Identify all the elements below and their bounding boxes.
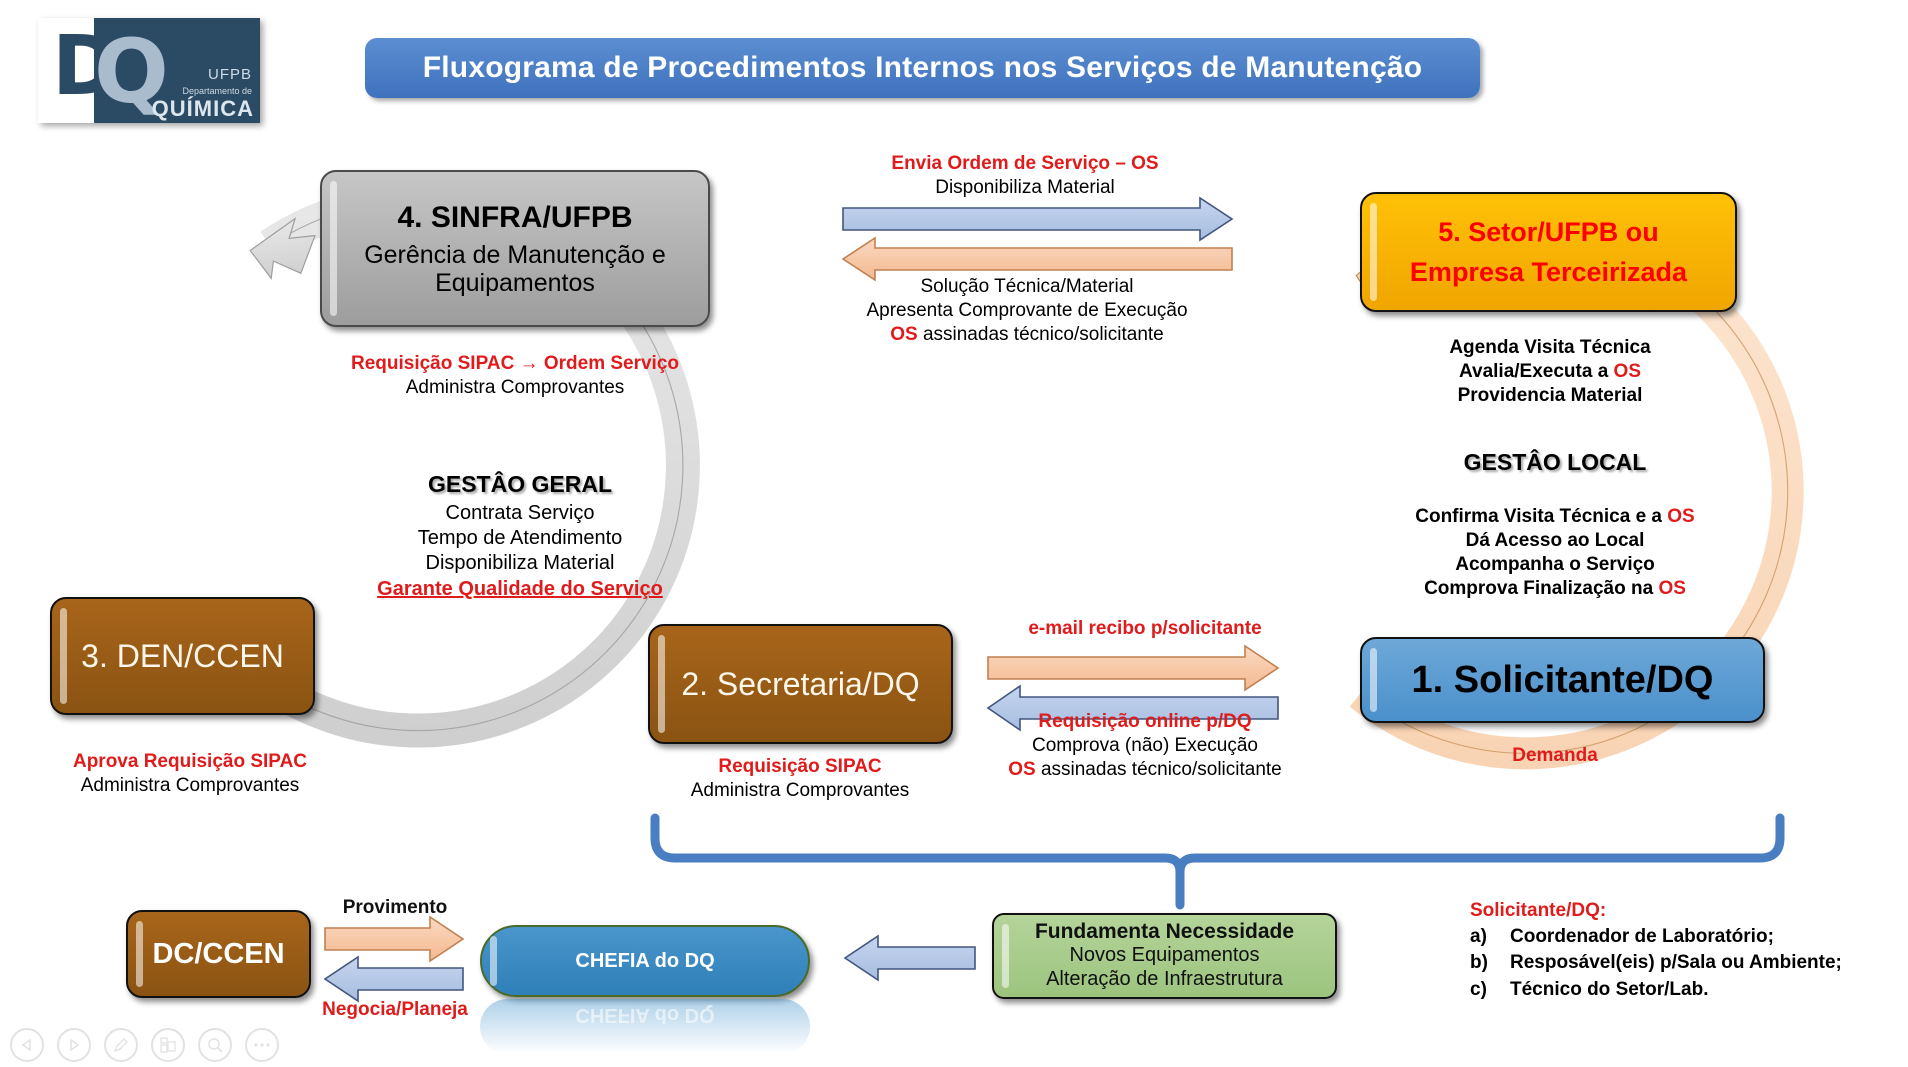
node-sinfra-heading: 4. SINFRA/UFPB	[397, 201, 632, 235]
annotation-solucao-tecnica: Solução Técnica/Material Apresenta Compr…	[812, 275, 1242, 347]
solicitante-list-heading: Solicitante/DQ:	[1470, 898, 1890, 924]
annotation-req-online-line-3-rest: assinadas técnico/solicitante	[1036, 759, 1282, 780]
list-item: b) Resposável(eis) p/Sala ou Ambiente;	[1470, 950, 1890, 976]
play-icon[interactable]	[57, 1028, 91, 1062]
annotation-req-online-line-3: OS assinadas técnico/solicitante	[985, 758, 1305, 782]
node-dc-ccen[interactable]: DC/CCEN	[126, 910, 311, 998]
list-marker: a)	[1470, 924, 1510, 950]
annotation-requisicao-online: Requisição online p/DQ Comprova (não) Ex…	[985, 710, 1305, 782]
node-dc-label: DC/CCEN	[152, 938, 284, 971]
annotation-solucao-line-1: Solução Técnica/Material	[812, 275, 1242, 299]
annotation-setor-sub: Agenda Visita Técnica Avalia/Executa a O…	[1400, 336, 1700, 408]
logo-quimica-text: QUÍMICA	[152, 96, 254, 122]
node-den-label: 3. DEN/CCEN	[81, 638, 284, 675]
node-secretaria-dq[interactable]: 2. Secretaria/DQ	[648, 624, 953, 744]
node-chefia-reflection-label: CHEFIA do DQ	[575, 1003, 714, 1026]
annotation-solucao-line-3-rest: assinadas técnico/solicitante	[918, 324, 1164, 345]
annotation-negocia-planeja: Negocia/Planeja	[315, 999, 475, 1021]
annotation-secretaria-line-2: Administra Comprovantes	[640, 779, 960, 803]
gestao-geral-heading: GESTÂO GERAL	[330, 470, 710, 499]
annotation-sinfra-sub-line-1: Requisição SIPAC → Ordem Serviço	[300, 352, 730, 376]
annotation-sinfra-sub-line-2: Administra Comprovantes	[300, 376, 730, 400]
arrow-negocia-planeja	[325, 957, 463, 1001]
box-highlight	[1002, 924, 1009, 988]
annotation-solucao-line-2: Apresenta Comprovante de Execução	[812, 299, 1242, 323]
node-secretaria-label: 2. Secretaria/DQ	[681, 666, 919, 703]
annotation-provimento: Provimento	[325, 897, 465, 919]
logo-ufpb-text: UFPB	[208, 66, 252, 83]
os-tag: OS	[1614, 361, 1641, 382]
box-highlight	[1370, 203, 1377, 301]
gestao-local-line-1: Confirma Visita Técnica e a OS	[1390, 505, 1720, 529]
os-tag: OS	[1658, 578, 1685, 599]
annotation-demanda: Demanda	[1430, 744, 1680, 768]
annotation-gestao-geral: GESTÂO GERAL Contrata Serviço Tempo de A…	[330, 470, 710, 602]
node-setor-line-2: Empresa Terceirizada	[1410, 252, 1687, 293]
more-options-icon[interactable]	[245, 1028, 279, 1062]
annotation-envia-os: Envia Ordem de Serviço – OS Disponibiliz…	[830, 152, 1220, 200]
node-sinfra-ufpb[interactable]: 4. SINFRA/UFPB Gerência de Manutenção e …	[320, 170, 710, 327]
annotation-email-recibo: e-mail recibo p/solicitante	[985, 618, 1305, 640]
node-fundamenta-line-3: Alteração de Infraestrutura	[1046, 968, 1283, 992]
gestao-geral-line-1: Contrata Serviço	[330, 501, 710, 526]
annotation-envia-os-line-1: Envia Ordem de Serviço – OS	[830, 152, 1220, 176]
node-chefia-reflection: CHEFIA do DQ	[480, 999, 810, 1054]
annotation-setor-line-1: Agenda Visita Técnica	[1400, 336, 1700, 360]
gestao-geral-highlight: Garante Qualidade do Serviço	[330, 577, 710, 602]
annotation-envia-os-line-2: Disponibiliza Material	[830, 176, 1220, 200]
annotation-solicitante-list: Solicitante/DQ: a) Coordenador de Labora…	[1470, 898, 1890, 1003]
list-marker: c)	[1470, 977, 1510, 1003]
box-highlight	[330, 181, 337, 316]
node-setor-line-1: 5. Setor/UFPB ou	[1438, 212, 1659, 253]
arrow-email-recibo	[988, 646, 1278, 690]
dq-ufpb-logo: D Q UFPB Departamento de QUÍMICA	[38, 18, 260, 123]
node-solicitante-dq[interactable]: 1. Solicitante/DQ	[1360, 637, 1765, 723]
gestao-local-line-4a: Comprova Finalização na	[1424, 578, 1658, 599]
list-item: c) Técnico do Setor/Lab.	[1470, 977, 1890, 1003]
annotation-setor-line-2: Avalia/Executa a OS	[1400, 360, 1700, 384]
previous-icon[interactable]	[10, 1028, 44, 1062]
annotation-setor-line-2a: Avalia/Executa a	[1459, 361, 1614, 382]
os-tag: OS	[1008, 759, 1035, 780]
page-title: Fluxograma de Procedimentos Internos nos…	[423, 51, 1423, 85]
gestao-local-line-2: Dá Acesso ao Local	[1390, 529, 1720, 553]
gestao-local-heading: GESTÂO LOCAL	[1390, 448, 1720, 477]
annotation-den-line-1: Aprova Requisição SIPAC	[30, 750, 350, 774]
box-highlight	[1370, 648, 1377, 712]
node-solicitante-label: 1. Solicitante/DQ	[1412, 659, 1714, 702]
node-sinfra-subtitle-2: Equipamentos	[364, 269, 666, 297]
gestao-geral-line-3: Disponibiliza Material	[330, 551, 710, 576]
node-fundamenta-line-2: Novos Equipamentos	[1069, 944, 1259, 968]
list-item: a) Coordenador de Laboratório;	[1470, 924, 1890, 950]
arrow-solucao-tecnica	[843, 238, 1232, 280]
node-setor-ufpb-terceirizada[interactable]: 5. Setor/UFPB ou Empresa Terceirizada	[1360, 192, 1737, 312]
zoom-icon[interactable]	[198, 1028, 232, 1062]
node-chefia-label: CHEFIA do DQ	[575, 950, 714, 973]
node-sinfra-subtitle-1: Gerência de Manutenção e	[364, 241, 666, 269]
node-fundamenta-necessidade[interactable]: Fundamenta Necessidade Novos Equipamento…	[992, 913, 1337, 999]
node-den-ccen[interactable]: 3. DEN/CCEN	[50, 597, 315, 715]
presentation-toolbar[interactable]	[10, 1026, 290, 1064]
arrow-envia-os	[843, 198, 1232, 240]
list-text: Técnico do Setor/Lab.	[1510, 977, 1708, 1003]
pen-icon[interactable]	[104, 1028, 138, 1062]
logo-departamento-text: Departamento de	[182, 86, 252, 96]
gestao-local-line-1a: Confirma Visita Técnica e a	[1415, 506, 1667, 527]
gestao-local-line-4: Comprova Finalização na OS	[1390, 577, 1720, 601]
os-tag: OS	[890, 324, 917, 345]
annotation-setor-line-3: Providencia Material	[1400, 384, 1700, 408]
node-fundamenta-line-1: Fundamenta Necessidade	[1035, 920, 1294, 944]
os-tag: OS	[1667, 506, 1694, 527]
page-title-banner: Fluxograma de Procedimentos Internos nos…	[365, 38, 1480, 98]
box-highlight	[658, 635, 665, 733]
annotation-req-online-line-1: Requisição online p/DQ	[985, 710, 1305, 734]
gestao-geral-line-2: Tempo de Atendimento	[330, 526, 710, 551]
node-chefia-do-dq[interactable]: CHEFIA do DQ	[480, 925, 810, 997]
arrow-provimento	[325, 917, 463, 961]
gestao-local-line-3: Acompanha o Serviço	[1390, 553, 1720, 577]
annotation-den-line-2: Administra Comprovantes	[30, 774, 350, 798]
list-text: Resposável(eis) p/Sala ou Ambiente;	[1510, 950, 1842, 976]
annotation-gestao-local: GESTÂO LOCAL Confirma Visita Técnica e a…	[1390, 448, 1720, 601]
box-highlight	[136, 921, 143, 987]
annotation-secretaria-sub: Requisição SIPAC Administra Comprovantes	[640, 755, 960, 803]
annotation-sinfra-sub: Requisição SIPAC → Ordem Serviço Adminis…	[300, 352, 730, 400]
list-marker: b)	[1470, 950, 1510, 976]
box-highlight	[490, 936, 497, 986]
arrow-fundamenta-to-chefia	[845, 936, 975, 980]
slides-icon[interactable]	[151, 1028, 185, 1062]
bottom-bracket-connector	[655, 818, 1780, 905]
annotation-solucao-line-3: OS assinadas técnico/solicitante	[812, 323, 1242, 347]
annotation-req-online-line-2: Comprova (não) Execução	[985, 734, 1305, 758]
box-highlight	[60, 608, 67, 704]
annotation-den-sub: Aprova Requisição SIPAC Administra Compr…	[30, 750, 350, 798]
annotation-secretaria-line-1: Requisição SIPAC	[640, 755, 960, 779]
list-text: Coordenador de Laboratório;	[1510, 924, 1774, 950]
